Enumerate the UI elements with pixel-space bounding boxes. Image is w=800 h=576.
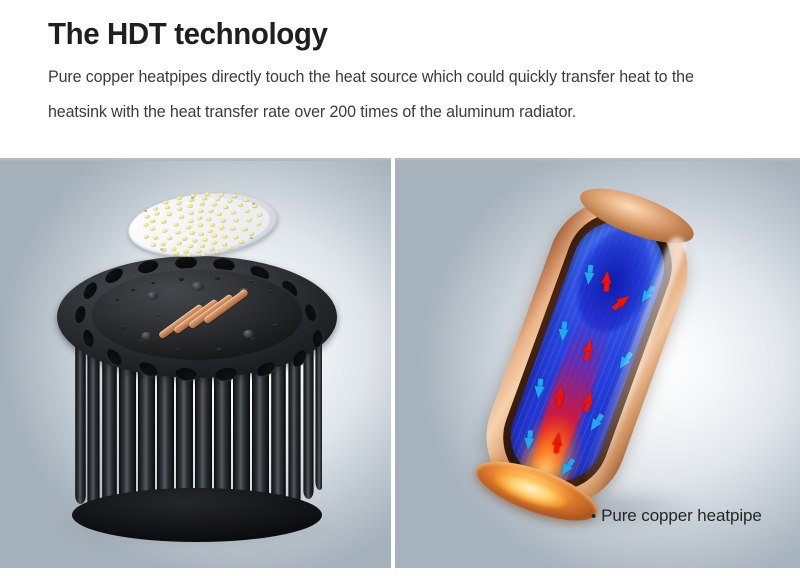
led-array — [125, 186, 281, 263]
led-chip-board — [125, 186, 281, 263]
page-description: Pure copper heatpipes directly touch the… — [48, 60, 746, 130]
image-strip: •Pure copper heatpipe — [0, 158, 800, 568]
bullet-icon: • — [591, 508, 596, 525]
header-block: The HDT technology Pure copper heatpipes… — [48, 14, 778, 130]
heatpipe-diagram-panel: •Pure copper heatpipe — [395, 158, 800, 568]
plate-center-disc — [91, 268, 303, 360]
heatpipe-caption: •Pure copper heatpipe — [591, 506, 762, 526]
caption-label: Pure copper heatpipe — [601, 506, 762, 525]
heatpipe-body — [467, 180, 707, 527]
led-highbay-heatsink-photo — [0, 158, 391, 568]
copper-heatpipe-cutaway-diagram: •Pure copper heatpipe — [395, 158, 800, 568]
barrel-bottom-rim — [72, 488, 322, 542]
product-feature-slide: The HDT technology Pure copper heatpipes… — [0, 0, 800, 576]
heatsink-top-plate — [57, 256, 337, 378]
page-title: The HDT technology — [48, 14, 742, 54]
led-heatsink-panel — [0, 158, 391, 568]
